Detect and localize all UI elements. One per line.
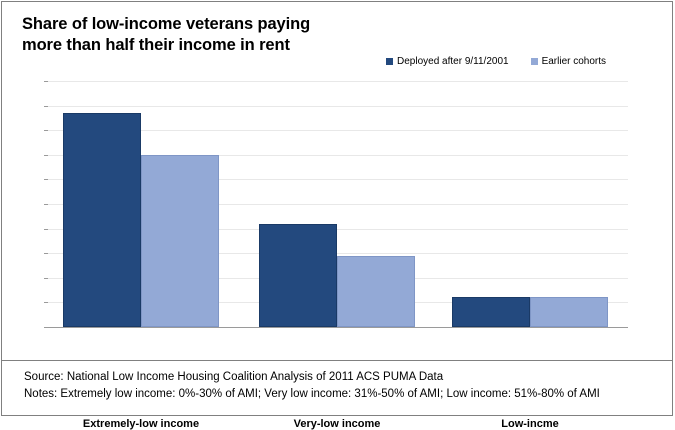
- legend-swatch-icon-deployed: [386, 58, 393, 65]
- x-axis-category-label: Low-incme: [452, 418, 608, 430]
- gridline: [48, 81, 628, 82]
- chart-legend: Deployed after 9/11/2001 Earlier cohorts: [386, 56, 606, 67]
- chart-footnote: Source: National Low Income Housing Coal…: [1, 360, 673, 416]
- y-axis-tick-mark: [44, 130, 48, 131]
- legend-item-earlier-cohorts[interactable]: Earlier cohorts: [531, 56, 606, 67]
- y-axis-tick-mark: [44, 229, 48, 230]
- legend-item-deployed-after-911[interactable]: Deployed after 9/11/2001: [386, 56, 509, 67]
- bar-deployed-2[interactable]: [259, 224, 337, 327]
- y-axis-tick-mark: [44, 106, 48, 107]
- footnote-notes: Notes: Extremely low income: 0%-30% of A…: [24, 388, 600, 400]
- footnote-source: Source: National Low Income Housing Coal…: [24, 371, 443, 383]
- x-axis-line: [48, 327, 628, 328]
- x-axis-category-label: Extremely-low income: [63, 418, 219, 430]
- plot-area: 100%90%80%70%60%50%40%30%20%10%0%Extreme…: [48, 81, 628, 327]
- legend-label-deployed: Deployed after 9/11/2001: [397, 56, 509, 67]
- bar-deployed-3[interactable]: [452, 297, 530, 327]
- chart-title-line-2: more than half their income in rent: [22, 35, 402, 56]
- y-axis-tick-mark: [44, 81, 48, 82]
- y-axis-tick-mark: [44, 179, 48, 180]
- gridline: [48, 106, 628, 107]
- chart-figure: Share of low-income veterans paying more…: [0, 0, 675, 418]
- bar-earlier-2[interactable]: [337, 256, 415, 327]
- x-axis-category-label: Very-low income: [259, 418, 415, 430]
- legend-swatch-icon-earlier: [531, 58, 538, 65]
- bar-deployed-1[interactable]: [63, 113, 141, 327]
- bar-earlier-3[interactable]: [530, 297, 608, 327]
- bar-earlier-1[interactable]: [141, 155, 219, 327]
- y-axis-tick-mark: [44, 155, 48, 156]
- chart-title-line-1: Share of low-income veterans paying: [22, 14, 402, 35]
- y-axis-tick-mark: [44, 278, 48, 279]
- legend-label-earlier: Earlier cohorts: [542, 56, 606, 67]
- y-axis-tick-mark: [44, 204, 48, 205]
- chart-title: Share of low-income veterans paying more…: [22, 14, 402, 56]
- y-axis-tick-mark: [44, 253, 48, 254]
- y-axis-tick-mark: [44, 302, 48, 303]
